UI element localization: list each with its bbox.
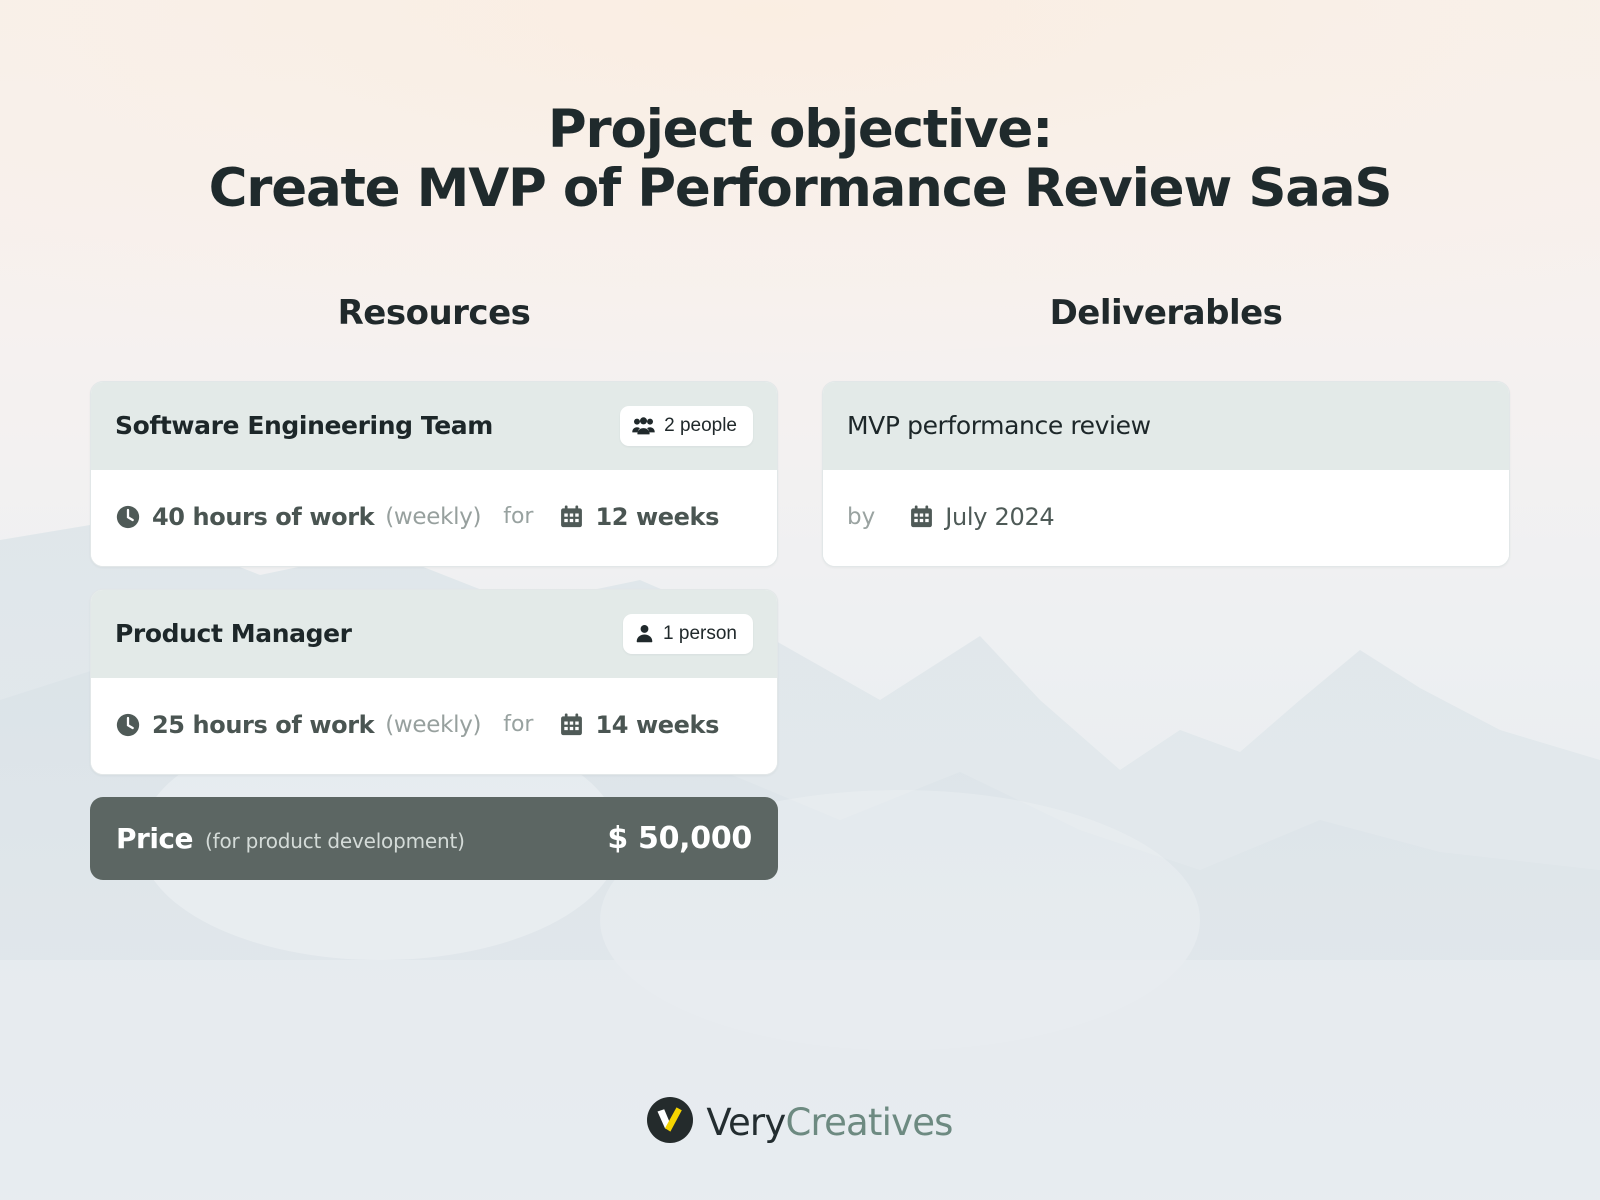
people-count-badge[interactable]: 1 person (623, 614, 753, 654)
deliverable-card[interactable]: MVP performance review by (822, 381, 1510, 567)
verycreatives-v-mark-icon (647, 1097, 693, 1148)
clock-icon (115, 504, 141, 530)
page-title-line-1: Project objective: (0, 100, 1600, 159)
connector-by: by (847, 504, 875, 530)
duration-value: 12 weeks (595, 503, 719, 531)
column-deliverables: Deliverables MVP performance review by (822, 293, 1510, 589)
people-count-label: 1 person (663, 623, 737, 645)
duration-metric: 14 weeks (559, 711, 719, 739)
clock-icon (115, 712, 141, 738)
resource-card-header: Product Manager 1 person (91, 590, 777, 678)
connector-for: for (503, 712, 533, 737)
due-date-metric: July 2024 (909, 503, 1054, 531)
page-title: Project objective: Create MVP of Perform… (0, 0, 1600, 219)
resource-card-title: Product Manager (115, 620, 352, 648)
resource-card-header: Software Engineering Team (91, 382, 777, 470)
calendar-icon (909, 504, 934, 529)
people-count-label: 2 people (664, 415, 737, 437)
people-count-badge[interactable]: 2 people (620, 406, 753, 446)
hours-note: (weekly) (385, 504, 481, 530)
person-icon (635, 624, 654, 643)
hours-value: 25 hours of work (152, 711, 374, 739)
column-resources: Resources Software Engineering Team (90, 293, 778, 880)
columns-container: Resources Software Engineering Team (0, 293, 1600, 880)
brand-wordmark: VeryCreatives (706, 1101, 952, 1144)
slide: Project objective: Create MVP of Perform… (0, 0, 1600, 1200)
page-title-line-2: Create MVP of Performance Review SaaS (0, 159, 1600, 218)
resource-card[interactable]: Software Engineering Team (90, 381, 778, 567)
brand-name-first: Very (706, 1101, 785, 1144)
deliverable-card-header: MVP performance review (823, 382, 1509, 470)
price-label: Price (116, 822, 193, 855)
people-group-icon (632, 417, 655, 435)
price-note: (for product development) (205, 829, 465, 853)
connector-for: for (503, 504, 533, 529)
brand-name-second: Creatives (785, 1101, 952, 1144)
resource-card-body: 25 hours of work (weekly) for (91, 678, 777, 774)
price-bar: Price (for product development) $ 50,000 (90, 797, 778, 880)
due-date-value: July 2024 (945, 503, 1054, 531)
price-left-group: Price (for product development) (116, 822, 465, 855)
deliverable-card-body: by (823, 470, 1509, 566)
hours-metric: 40 hours of work (weekly) (115, 503, 481, 531)
resources-heading: Resources (90, 293, 778, 333)
footer-logo: VeryCreatives (0, 1097, 1600, 1148)
resource-card-body: 40 hours of work (weekly) for (91, 470, 777, 566)
hours-metric: 25 hours of work (weekly) (115, 711, 481, 739)
hours-note: (weekly) (385, 712, 481, 738)
duration-metric: 12 weeks (559, 503, 719, 531)
calendar-icon (559, 712, 584, 737)
calendar-icon (559, 504, 584, 529)
resource-card-title: Software Engineering Team (115, 412, 493, 440)
deliverables-heading: Deliverables (822, 293, 1510, 333)
deliverable-card-title: MVP performance review (847, 412, 1151, 440)
resource-card[interactable]: Product Manager 1 person (90, 589, 778, 775)
duration-value: 14 weeks (595, 711, 719, 739)
hours-value: 40 hours of work (152, 503, 374, 531)
price-value: $ 50,000 (607, 821, 752, 856)
